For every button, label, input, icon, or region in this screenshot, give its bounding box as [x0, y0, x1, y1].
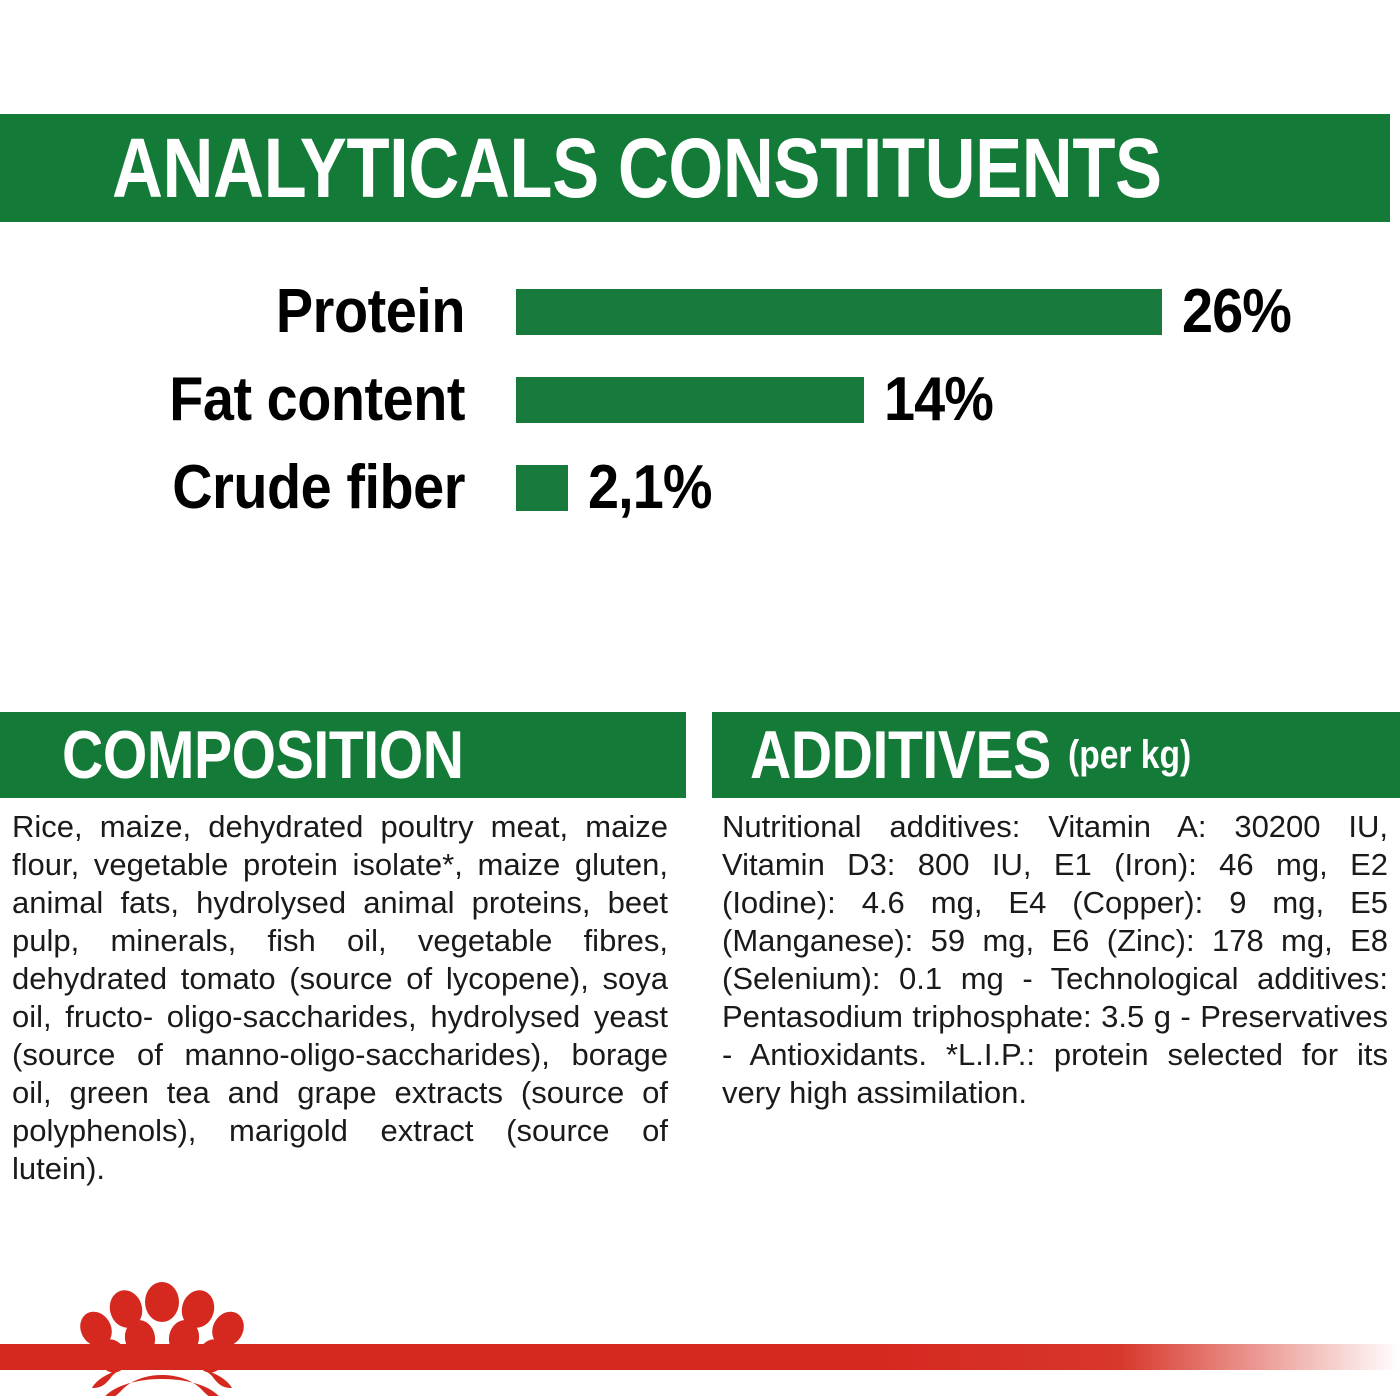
additives-heading: ADDITIVES — [750, 721, 1051, 789]
additives-panel: ADDITIVES (per kg) Nutritional additives… — [712, 712, 1400, 1188]
brand-footer — [0, 1322, 1400, 1400]
composition-text: Rice, maize, dehydrated poultry meat, ma… — [0, 798, 686, 1188]
analyticals-constituents-banner: ANALYTICALS CONSTITUENTS — [0, 114, 1390, 222]
bar-label-protein: Protein — [47, 281, 466, 343]
panel-divider — [686, 712, 712, 1188]
additives-banner: ADDITIVES (per kg) — [712, 712, 1400, 798]
chart-row-protein: Protein 26% — [0, 268, 1400, 356]
bar-track-crude-fiber: 2,1% — [516, 457, 725, 519]
bar-track-protein: 26% — [516, 281, 1303, 343]
page-title: ANALYTICALS CONSTITUENTS — [112, 126, 1162, 210]
royal-canin-crown-icon — [72, 1276, 252, 1396]
bar-value-crude-fiber: 2,1% — [588, 457, 712, 519]
analytical-constituents-chart: Protein 26% Fat content 14% Crude fiber … — [0, 268, 1400, 532]
bar-fill-crude-fiber — [516, 465, 568, 511]
additives-subheading: (per kg) — [1068, 733, 1191, 778]
bar-value-protein: 26% — [1182, 281, 1291, 343]
bar-fill-protein — [516, 289, 1162, 335]
bar-track-fat-content: 14% — [516, 369, 1005, 431]
additives-text: Nutritional additives: Vitamin A: 30200 … — [712, 798, 1400, 1112]
composition-heading: COMPOSITION — [62, 721, 464, 789]
bar-value-fat-content: 14% — [884, 369, 993, 431]
bar-label-crude-fiber: Crude fiber — [47, 457, 466, 519]
bar-label-fat-content: Fat content — [47, 369, 466, 431]
chart-row-fat-content: Fat content 14% — [0, 356, 1400, 444]
detail-panels: COMPOSITION Rice, maize, dehydrated poul… — [0, 712, 1400, 1188]
bar-fill-fat-content — [516, 377, 864, 423]
composition-panel: COMPOSITION Rice, maize, dehydrated poul… — [0, 712, 686, 1188]
composition-banner: COMPOSITION — [0, 712, 686, 798]
chart-row-crude-fiber: Crude fiber 2,1% — [0, 444, 1400, 532]
